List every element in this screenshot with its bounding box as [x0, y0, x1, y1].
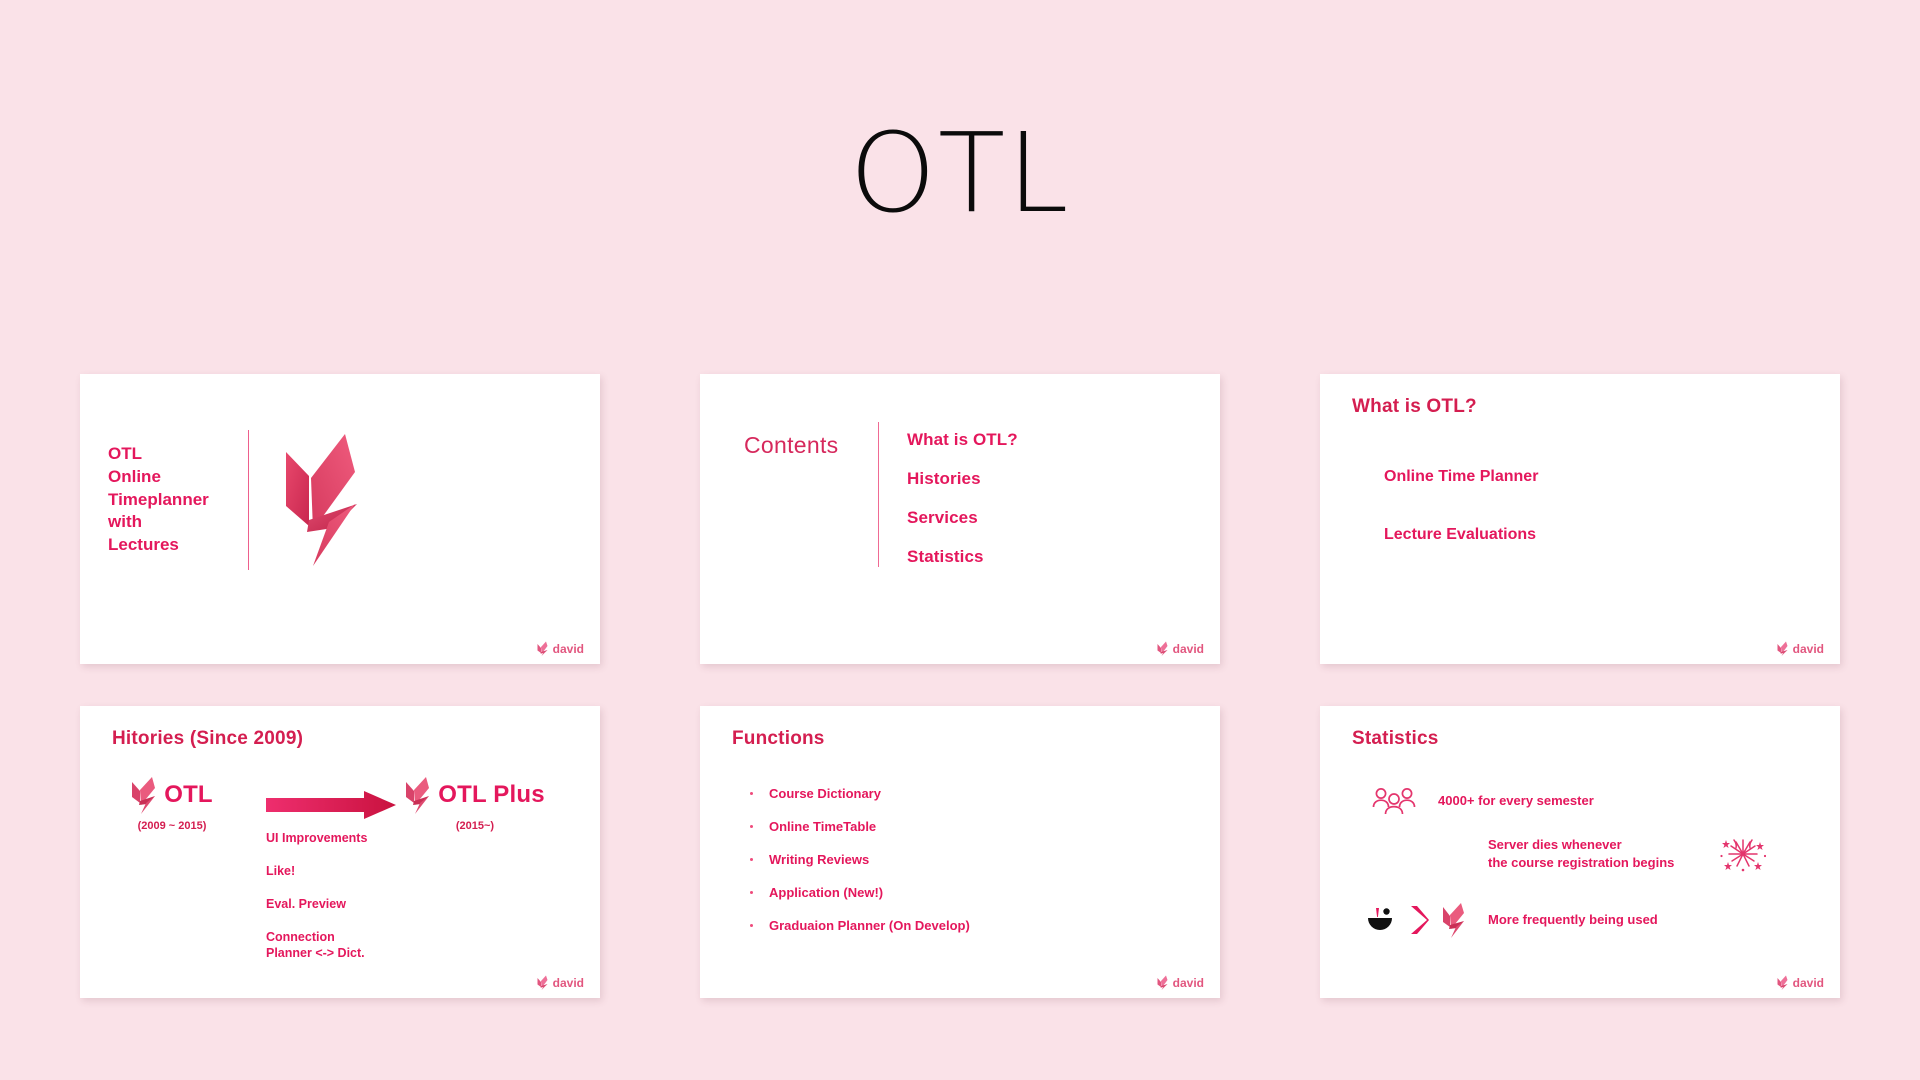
history-step: Eval. Preview [266, 896, 367, 912]
cover-divider [248, 430, 249, 570]
list-item-label: Writing Reviews [769, 852, 869, 867]
bullet-icon [750, 792, 753, 795]
statistic-text: 4000+ for every semester [1438, 792, 1594, 810]
brand-name: OTL Plus [438, 781, 545, 809]
bullet-icon [750, 858, 753, 861]
functions-list: Course Dictionary Online TimeTable Writi… [750, 786, 970, 933]
slide-signature: david [1157, 641, 1204, 656]
contents-heading: Contents [744, 420, 862, 567]
slide-title: Hitories (Since 2009) [112, 728, 303, 750]
list-item[interactable]: Application (New!) [750, 885, 970, 900]
statistic-text: Server dies whenever the course registra… [1488, 836, 1674, 873]
slide-thumbnail-contents[interactable]: Contents What is OTL? Histories Services… [700, 374, 1220, 664]
brand-row: OTL [102, 776, 242, 814]
what-is-otl-list: Online Time Planner Lecture Evaluations [1384, 468, 1538, 544]
otl-bolt-mark-icon [1157, 641, 1168, 656]
slide-signature: david [1157, 975, 1204, 990]
contents-list: What is OTL? Histories Services Statisti… [907, 420, 1018, 567]
list-item[interactable]: Online TimeTable [750, 819, 970, 834]
slide-thumbnail-functions[interactable]: Functions Course Dictionary Online TimeT… [700, 706, 1220, 998]
bullet-icon [750, 924, 753, 927]
list-item[interactable]: Online Time Planner [1384, 468, 1538, 486]
otl-bolt-mark-icon [1777, 975, 1788, 990]
slide-thumbnail-statistics[interactable]: Statistics 4000+ for every semester Serv… [1320, 706, 1840, 998]
cover-text: OTL Online Timeplanner with Lectures [108, 443, 228, 557]
otl-bolt-logo-icon [405, 776, 431, 814]
slide-signature: david [537, 641, 584, 656]
list-item-label: Online TimeTable [769, 819, 876, 834]
deck-title: OTL [0, 118, 1920, 228]
list-item-label: Graduaion Planner (On Develop) [769, 918, 970, 933]
contents-item[interactable]: Services [907, 508, 1018, 528]
smiley-icon [1364, 904, 1396, 936]
otl-bolt-mark-icon [1157, 975, 1168, 990]
signature-label: david [553, 976, 584, 990]
list-item-label: Course Dictionary [769, 786, 881, 801]
list-item[interactable]: Writing Reviews [750, 852, 970, 867]
list-item[interactable]: Graduaion Planner (On Develop) [750, 918, 970, 933]
people-group-icon [1372, 786, 1416, 816]
signature-label: david [1173, 976, 1204, 990]
history-step: Connection Planner <-> Dict. [266, 929, 367, 961]
fireworks-icon [1720, 834, 1766, 874]
bullet-icon [750, 891, 753, 894]
otl-bolt-logo-icon [131, 776, 157, 814]
statistic-row: 4000+ for every semester [1372, 786, 1594, 816]
bullet-icon [750, 825, 753, 828]
list-item[interactable]: Course Dictionary [750, 786, 970, 801]
otl-bolt-logo-icon [283, 430, 361, 570]
slide-signature: david [1777, 975, 1824, 990]
brand-name: OTL [164, 781, 213, 809]
otl-bolt-mark-icon [537, 975, 548, 990]
statistic-text: More frequently being used [1488, 911, 1658, 929]
slide-title: Functions [732, 728, 825, 750]
history-node-right: OTL Plus (2015~) [380, 776, 570, 832]
slide-thumbnail-cover[interactable]: OTL Online Timeplanner with Lectures [80, 374, 600, 664]
chevron-right-icon [1408, 904, 1430, 936]
brand-years: (2015~) [380, 820, 570, 832]
history-step: Like! [266, 863, 367, 879]
otl-bolt-mark-icon [537, 641, 548, 656]
contents-item[interactable]: Statistics [907, 547, 1018, 567]
statistic-row: More frequently being used [1364, 902, 1658, 938]
brand-row: OTL Plus [380, 776, 570, 814]
otl-bolt-logo-icon [1442, 902, 1466, 938]
slide-thumbnail-what-is-otl[interactable]: What is OTL? Online Time Planner Lecture… [1320, 374, 1840, 664]
history-node-left: OTL (2009 ~ 2015) [102, 776, 242, 832]
otl-bolt-mark-icon [1777, 641, 1788, 656]
slide-thumbnail-histories[interactable]: Hitories (Since 2009) OTL (2009 ~ 2015) [80, 706, 600, 998]
histories-diagram: OTL (2009 ~ 2015) OTL Plus [80, 768, 600, 998]
signature-label: david [1793, 976, 1824, 990]
slide-title: What is OTL? [1352, 396, 1477, 418]
contents-item[interactable]: Histories [907, 469, 1018, 489]
brand-years: (2009 ~ 2015) [102, 820, 242, 832]
list-item[interactable]: Lecture Evaluations [1384, 526, 1538, 544]
statistic-row: Server dies whenever the course registra… [1488, 834, 1766, 874]
contents-content: Contents What is OTL? Histories Services… [744, 420, 1018, 567]
signature-label: david [1173, 642, 1204, 656]
arrow-right-icon [266, 790, 396, 820]
contents-item[interactable]: What is OTL? [907, 430, 1018, 450]
slide-title: Statistics [1352, 728, 1438, 750]
contents-divider [878, 422, 879, 567]
history-step: UI Improvements [266, 830, 367, 846]
cover-content: OTL Online Timeplanner with Lectures [108, 430, 361, 570]
history-steps: UI Improvements Like! Eval. Preview Conn… [266, 830, 367, 961]
signature-label: david [1793, 642, 1824, 656]
slide-signature: david [537, 975, 584, 990]
signature-label: david [553, 642, 584, 656]
list-item-label: Application (New!) [769, 885, 883, 900]
slide-signature: david [1777, 641, 1824, 656]
